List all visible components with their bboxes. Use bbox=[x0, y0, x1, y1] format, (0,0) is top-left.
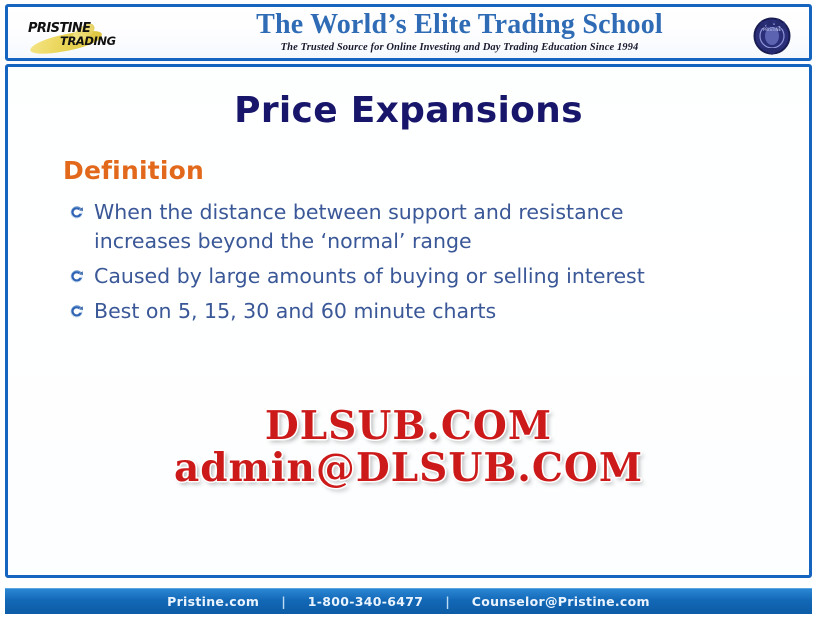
logo-text-line2: TRADING bbox=[60, 34, 116, 48]
slide-header: PRISTINE TRADING The World’s Elite Tradi… bbox=[5, 4, 812, 61]
list-item: Best on 5, 15, 30 and 60 minute charts bbox=[68, 297, 809, 326]
slide-canvas: PRISTINE TRADING The World’s Elite Tradi… bbox=[0, 0, 817, 618]
watermark-overlay: DLSUB.COM admin@DLSUB.COM bbox=[8, 407, 809, 489]
footer-website[interactable]: Pristine.com bbox=[167, 594, 259, 609]
watermark-line-1: DLSUB.COM bbox=[8, 407, 809, 447]
footer-email[interactable]: Counselor@Pristine.com bbox=[472, 594, 650, 609]
spiral-bullet-icon bbox=[68, 262, 94, 285]
spiral-bullet-icon bbox=[68, 198, 94, 221]
header-title-block: The World’s Elite Trading School The Tru… bbox=[158, 10, 809, 54]
spiral-bullet-icon bbox=[68, 297, 94, 320]
footer-separator: | bbox=[259, 594, 308, 609]
footer-phone[interactable]: 1-800-340-6477 bbox=[308, 594, 423, 609]
pristine-trading-logo: PRISTINE TRADING bbox=[8, 7, 158, 58]
list-item: Caused by large amounts of buying or sel… bbox=[68, 262, 809, 291]
list-item: When the distance between support and re… bbox=[68, 198, 809, 256]
list-item-text: Best on 5, 15, 30 and 60 minute charts bbox=[94, 297, 496, 326]
svg-text:PRISTINE: PRISTINE bbox=[763, 27, 782, 32]
slide-body: Price Expansions Definition When the dis… bbox=[5, 64, 812, 578]
list-item-text: When the distance between support and re… bbox=[94, 198, 714, 256]
pristine-crest-seal-icon: PRISTINE bbox=[749, 12, 795, 58]
bullet-list: When the distance between support and re… bbox=[68, 198, 809, 326]
header-title: The World’s Elite Trading School bbox=[158, 10, 761, 40]
section-heading-definition: Definition bbox=[63, 156, 809, 186]
slide-footer: Pristine.com | 1-800-340-6477 | Counselo… bbox=[5, 588, 812, 614]
list-item-text: Caused by large amounts of buying or sel… bbox=[94, 262, 645, 291]
page-title: Price Expansions bbox=[8, 90, 809, 132]
header-subtitle: The Trusted Source for Online Investing … bbox=[158, 41, 761, 54]
watermark-line-2: admin@DLSUB.COM bbox=[8, 449, 809, 489]
footer-separator: | bbox=[423, 594, 472, 609]
